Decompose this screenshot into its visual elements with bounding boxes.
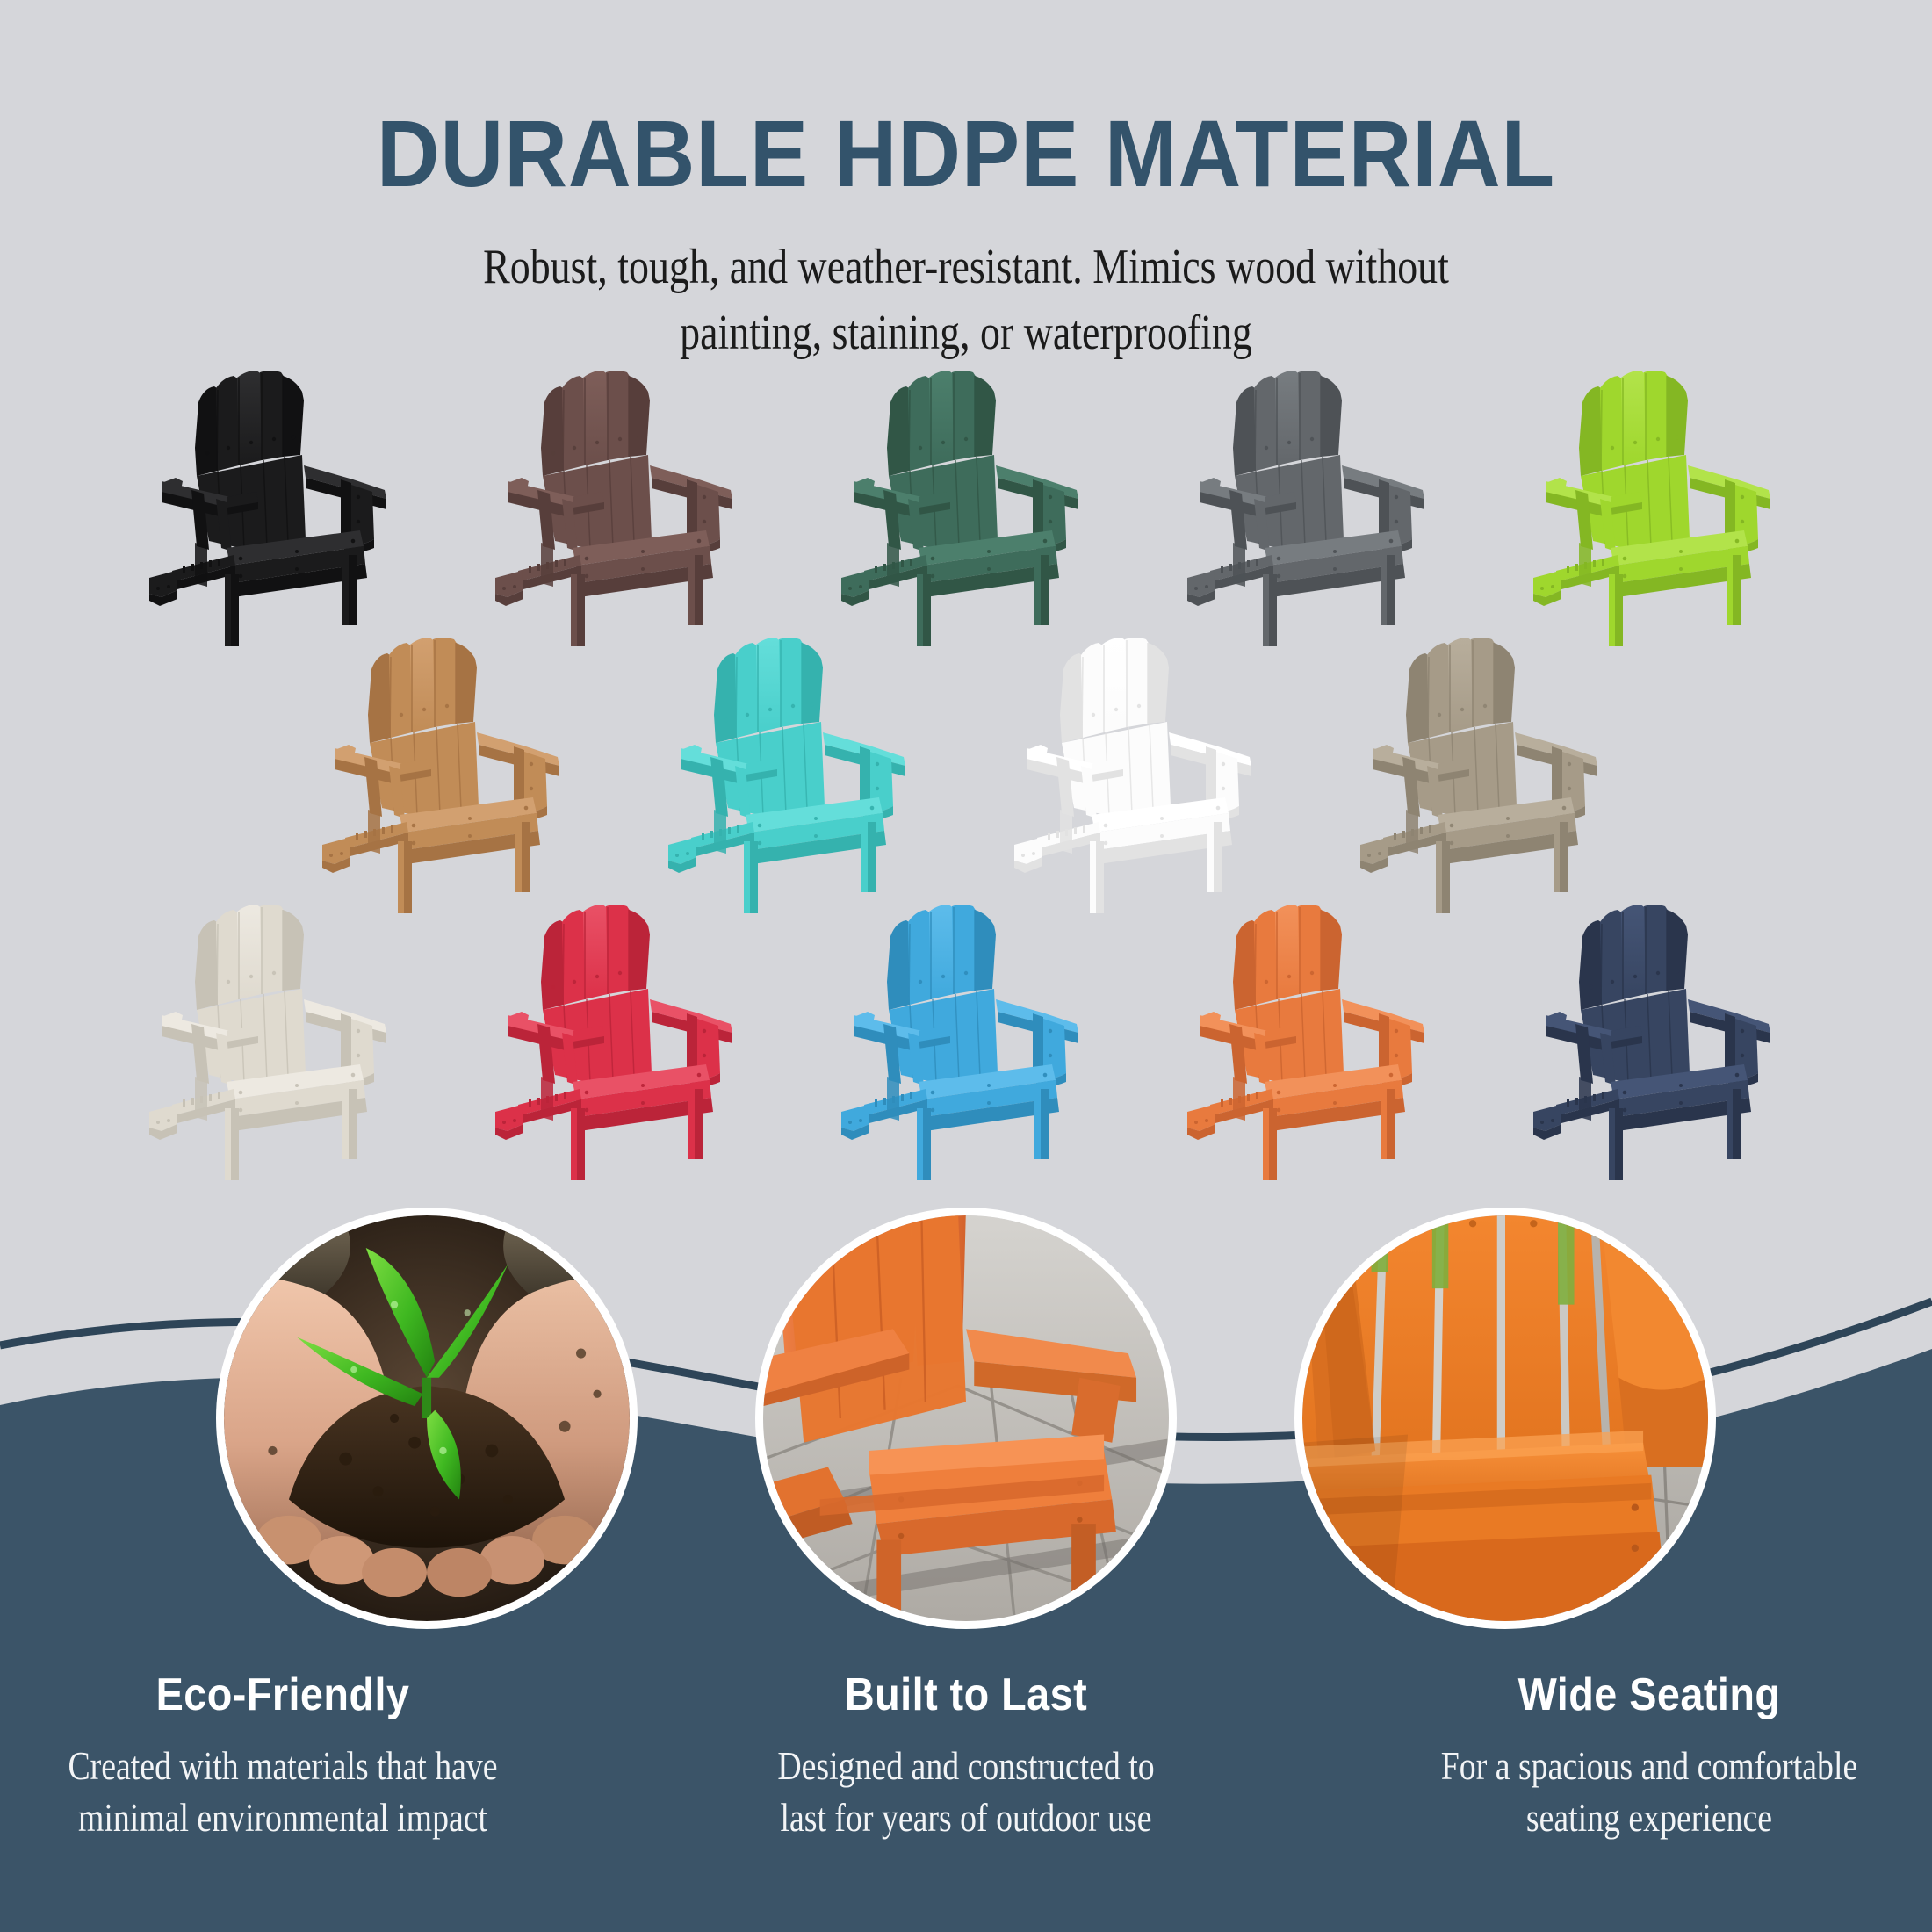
feature-title: Wide Seating — [1395, 1669, 1904, 1721]
chair-cell-orange[interactable] — [1180, 901, 1444, 1184]
chair-cell-red[interactable] — [488, 901, 752, 1184]
chair-cell-green[interactable] — [834, 367, 1098, 650]
wide-seat-closeup-image — [1302, 1215, 1708, 1621]
chair-white — [1007, 634, 1271, 917]
chair-cell-gray[interactable] — [1180, 367, 1444, 650]
chair-cell-white[interactable] — [1007, 634, 1271, 917]
chair-cell-brown[interactable] — [488, 367, 752, 650]
chair-cell-taupe[interactable] — [1353, 634, 1617, 917]
feature-description: Designed and constructed to last for yea… — [729, 1741, 1204, 1845]
chair-lime — [1526, 367, 1790, 650]
chair-cell-black[interactable] — [142, 367, 406, 650]
chair-ivory — [142, 901, 406, 1184]
chair-color-grid — [0, 367, 1932, 1184]
chair-row-3 — [0, 901, 1932, 1184]
chair-cell-ivory[interactable] — [142, 901, 406, 1184]
chair-row-2 — [0, 634, 1932, 917]
feature-description: Created with materials that have minimal… — [46, 1741, 521, 1845]
chair-blue — [834, 901, 1098, 1184]
feature-wide-seating: Wide Seating For a spacious and comforta… — [1366, 1669, 1932, 1845]
page-subtitle: Robust, tough, and weather-resistant. Mi… — [174, 234, 1758, 365]
chair-red — [488, 901, 752, 1184]
chair-cell-navy[interactable] — [1526, 901, 1790, 1184]
circle-wrap-eco — [216, 1207, 638, 1629]
wide-seating-photo — [1294, 1207, 1716, 1629]
feature-built-to-last: Built to Last Designed and constructed t… — [683, 1669, 1249, 1845]
built-to-last-photo — [755, 1207, 1177, 1629]
feature-title: Eco-Friendly — [28, 1669, 537, 1721]
chair-teak — [315, 634, 579, 917]
circle-wrap-wide — [1294, 1207, 1716, 1629]
chair-cell-teak[interactable] — [315, 634, 579, 917]
chair-orange — [1180, 901, 1444, 1184]
chair-black — [142, 367, 406, 650]
feature-list: Eco-Friendly Created with materials that… — [0, 1669, 1932, 1845]
feature-title: Built to Last — [711, 1669, 1221, 1721]
circle-wrap-built — [755, 1207, 1177, 1629]
chair-row-1 — [0, 367, 1932, 650]
chair-brown — [488, 367, 752, 650]
header: DURABLE HDPE MATERIAL Robust, tough, and… — [0, 0, 1932, 365]
feature-description: For a spacious and comfortable seating e… — [1412, 1741, 1887, 1845]
feature-eco-friendly: Eco-Friendly Created with materials that… — [0, 1669, 566, 1845]
chair-taupe — [1353, 634, 1617, 917]
chair-cell-turquoise[interactable] — [661, 634, 925, 917]
chair-cell-blue[interactable] — [834, 901, 1098, 1184]
page-title: DURABLE HDPE MATERIAL — [77, 104, 1855, 203]
chair-gray — [1180, 367, 1444, 650]
chair-cell-lime[interactable] — [1526, 367, 1790, 650]
chair-navy — [1526, 901, 1790, 1184]
eco-friendly-photo — [216, 1207, 638, 1629]
orange-chair-on-patio-image — [763, 1215, 1169, 1621]
chair-green — [834, 367, 1098, 650]
seedling-in-hands-image — [224, 1215, 630, 1621]
feature-photos — [0, 1207, 1932, 1629]
chair-turquoise — [661, 634, 925, 917]
